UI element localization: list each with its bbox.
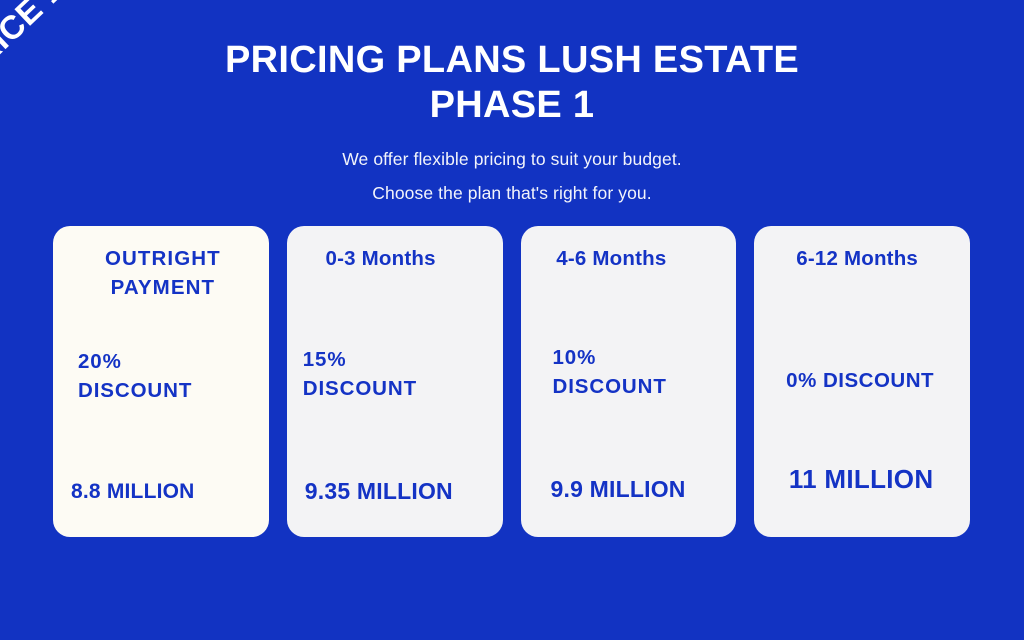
card-discount-line-2: DISCOUNT xyxy=(553,372,667,401)
card-discount: 15% DISCOUNT xyxy=(303,345,417,403)
card-discount: 20% DISCOUNT xyxy=(78,347,192,405)
card-discount-line-2: DISCOUNT xyxy=(78,376,192,405)
card-price: 11 MILLION xyxy=(754,464,970,495)
pricing-card-6-12-months[interactable]: 6-12 Months 0% DISCOUNT 11 MILLION xyxy=(754,226,970,537)
pricing-poster: PRICE 11 MILLION PRICING PLANS LUSH ESTA… xyxy=(0,0,1024,640)
card-heading: OUTRIGHT PAYMENT xyxy=(53,244,269,302)
card-discount-line-2: DISCOUNT xyxy=(303,374,417,403)
subtitle-line-2: Choose the plan that's right for you. xyxy=(0,176,1024,210)
card-heading: 6-12 Months xyxy=(754,244,970,273)
pricing-card-0-3-months[interactable]: 0-3 Months 15% DISCOUNT 9.35 MILLION xyxy=(287,226,503,537)
card-discount: 10% DISCOUNT xyxy=(553,343,667,401)
card-discount: 0% DISCOUNT xyxy=(754,366,970,395)
card-heading-line-1: 0-3 Months xyxy=(287,244,475,273)
card-heading: 0-3 Months xyxy=(287,244,503,273)
card-heading-line-2: PAYMENT xyxy=(79,273,247,302)
card-discount-line-1: 20% xyxy=(78,347,192,376)
card-price: 8.8 MILLION xyxy=(71,479,195,504)
card-price: 9.35 MILLION xyxy=(305,478,453,506)
pricing-cards-row: OUTRIGHT PAYMENT 20% DISCOUNT 8.8 MILLIO… xyxy=(53,226,970,537)
card-discount-line-1: 10% xyxy=(553,343,667,372)
card-discount-line-1: 15% xyxy=(303,345,417,374)
pricing-card-outright-payment[interactable]: OUTRIGHT PAYMENT 20% DISCOUNT 8.8 MILLIO… xyxy=(53,226,269,537)
card-heading-line-1: 6-12 Months xyxy=(754,244,960,273)
card-heading: 4-6 Months xyxy=(521,244,737,273)
card-heading-line-1: 4-6 Months xyxy=(521,244,703,273)
card-discount-line-1: 0% DISCOUNT xyxy=(754,366,966,395)
pricing-card-4-6-months[interactable]: 4-6 Months 10% DISCOUNT 9.9 MILLION xyxy=(521,226,737,537)
poster-header: PRICING PLANS LUSH ESTATE PHASE 1 We off… xyxy=(0,38,1024,210)
poster-subtitle: We offer flexible pricing to suit your b… xyxy=(0,142,1024,210)
subtitle-line-1: We offer flexible pricing to suit your b… xyxy=(0,142,1024,176)
page-title: PRICING PLANS LUSH ESTATE PHASE 1 xyxy=(0,38,1024,128)
card-price: 9.9 MILLION xyxy=(551,476,686,504)
card-heading-line-1: OUTRIGHT xyxy=(79,244,247,273)
